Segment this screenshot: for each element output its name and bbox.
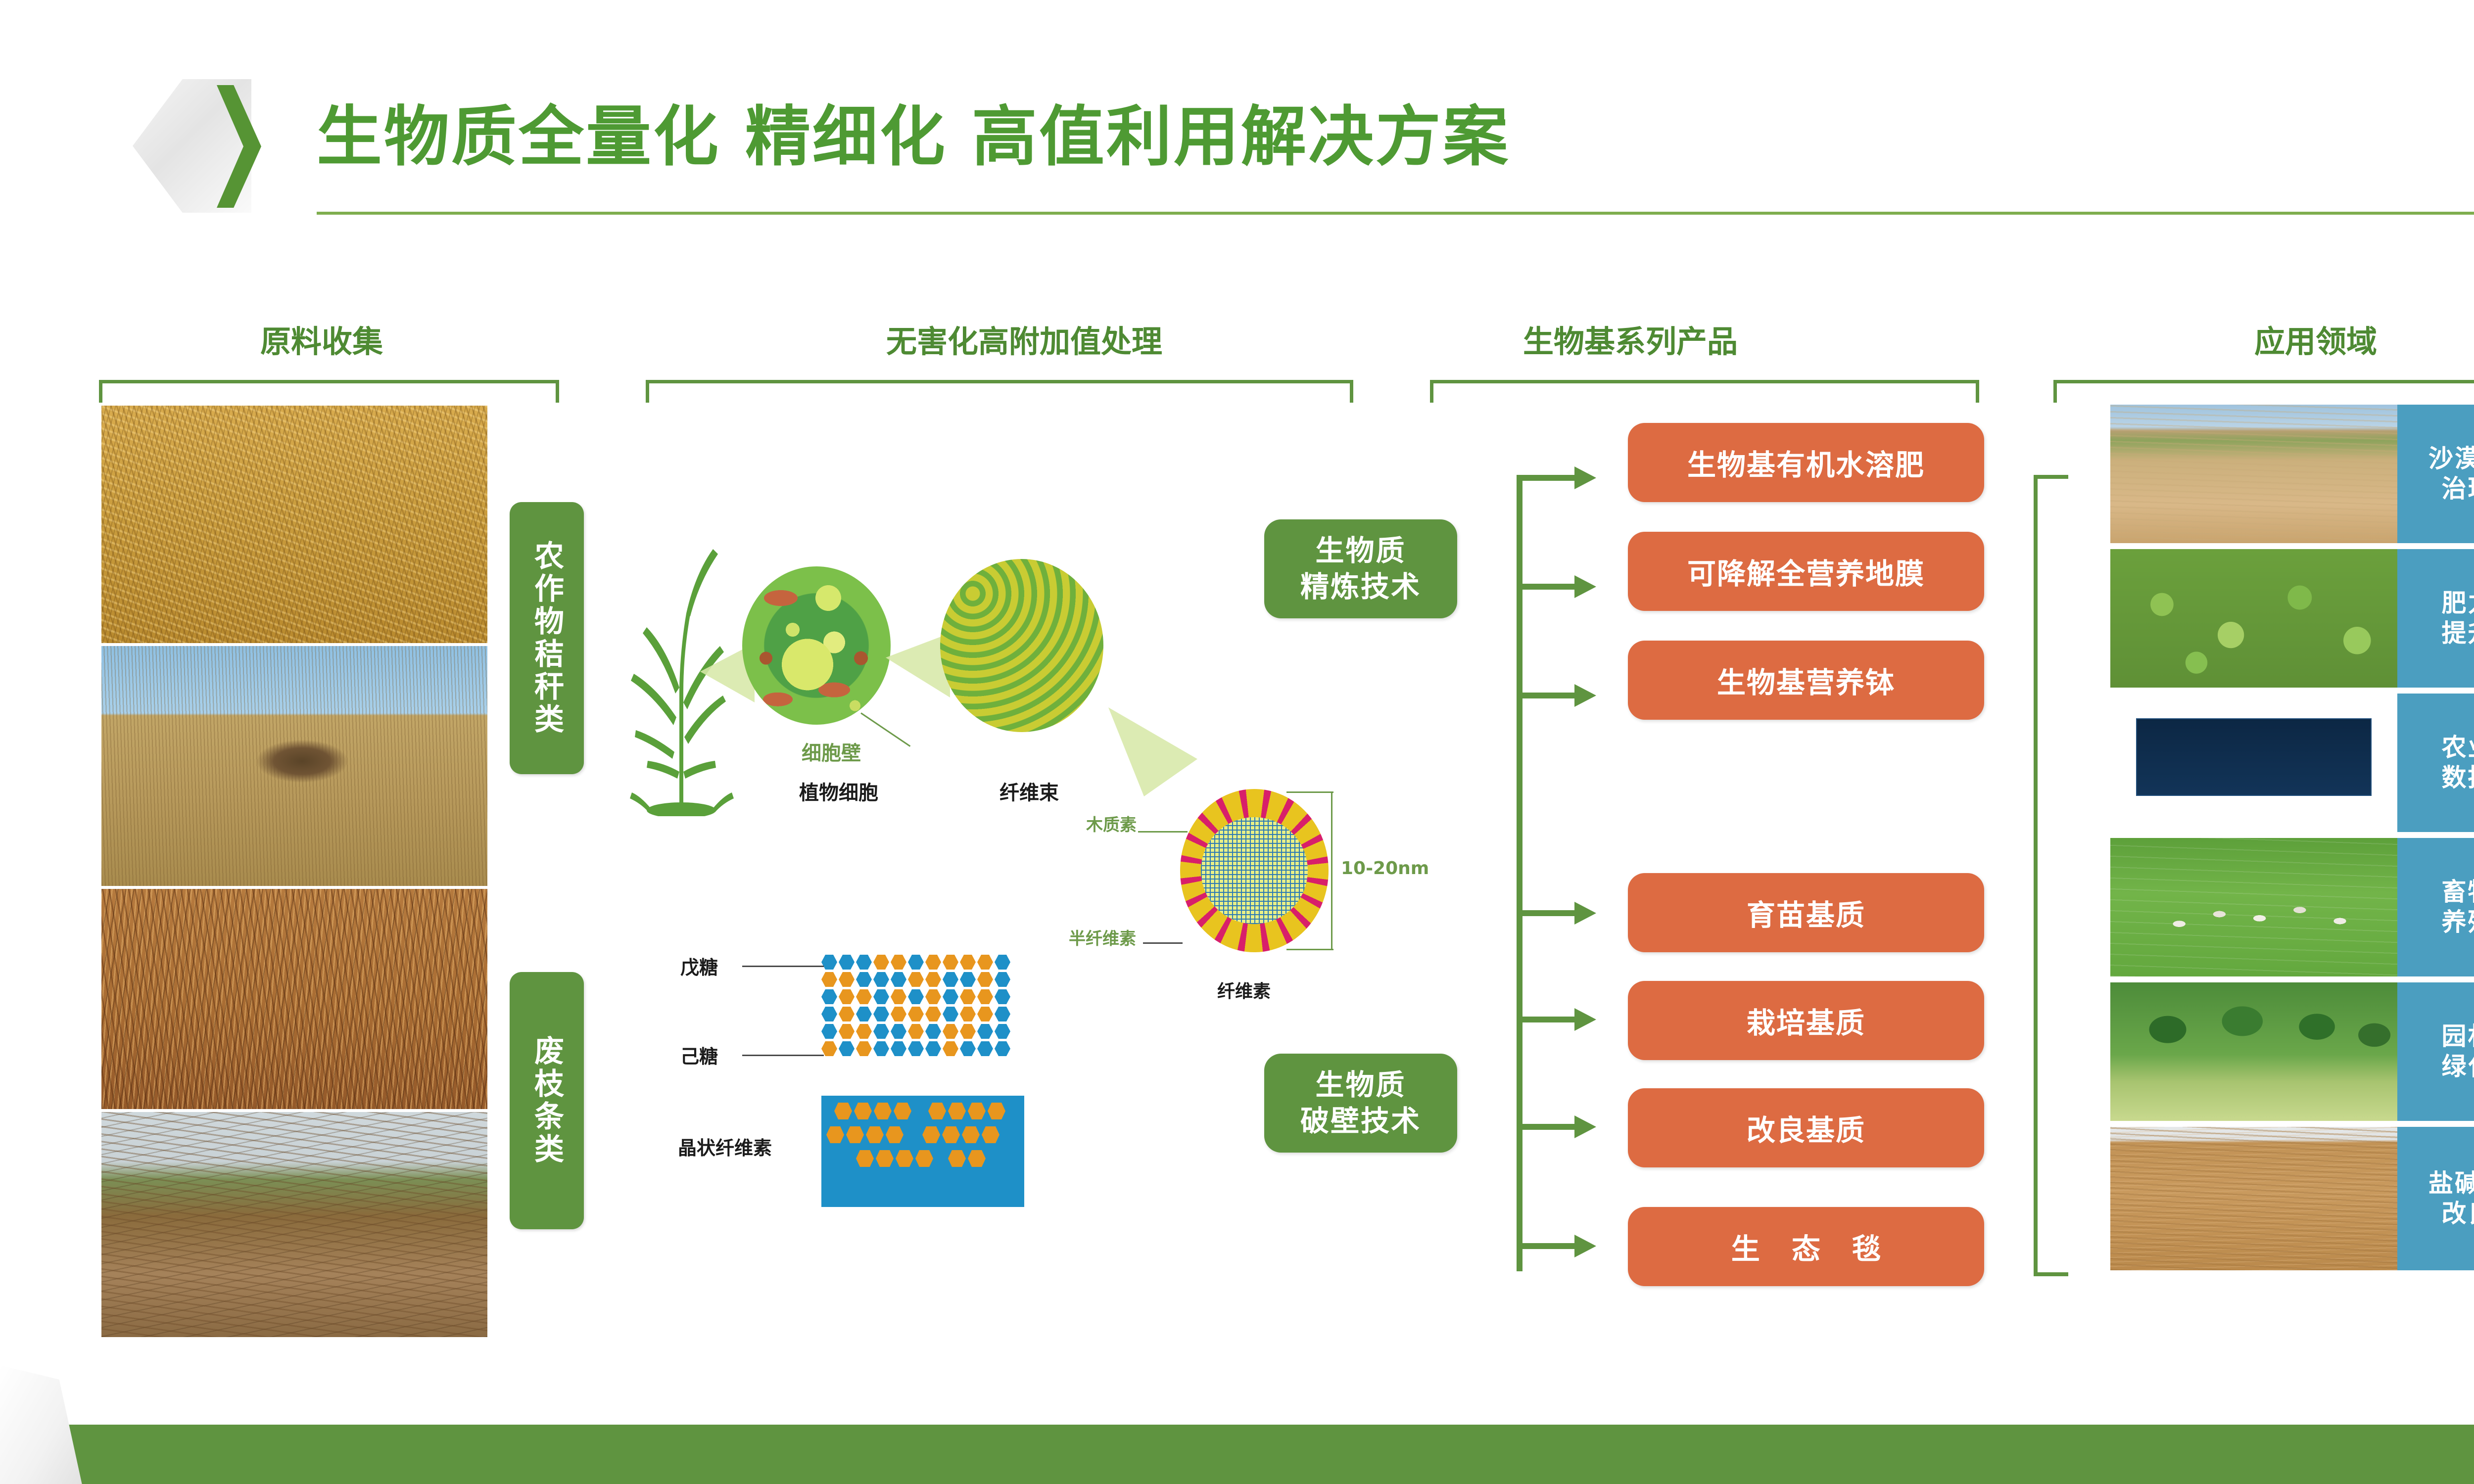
sugar-row bbox=[821, 1007, 1168, 1021]
product-box-biodegradable-mulch-film[interactable]: 可降解全营养地膜 bbox=[1628, 532, 1984, 611]
photo-saline-alkali-land bbox=[2110, 1127, 2397, 1270]
cellulose-row bbox=[826, 1126, 1024, 1143]
photo-corn-stalk-field bbox=[101, 406, 487, 643]
sugar-row bbox=[821, 989, 1168, 1004]
label-cell-wall: 细胞壁 bbox=[802, 737, 861, 766]
photo-straw-bale-field bbox=[101, 646, 487, 886]
photo-data-control-room bbox=[2110, 694, 2397, 832]
section-title-bio-products: 生物基系列产品 bbox=[1296, 317, 1964, 361]
arrow-branch bbox=[1517, 1243, 1576, 1249]
leader-line-pentose bbox=[742, 966, 824, 967]
arrow-head bbox=[1574, 466, 1596, 489]
crystalline-cellulose-illustration bbox=[821, 1096, 1024, 1207]
app-label-line2: 治理 bbox=[2428, 474, 2474, 504]
app-label-line2: 绿化 bbox=[2442, 1052, 2474, 1082]
sugar-row bbox=[821, 955, 1168, 970]
zoom-beam-3 bbox=[1108, 707, 1197, 796]
label-fiber-dimension: 10-20nm bbox=[1341, 858, 1429, 879]
fiber-bundle-illustration bbox=[940, 559, 1103, 732]
sugar-row bbox=[821, 972, 1168, 987]
arrow-trunk-rupture bbox=[1517, 910, 1522, 1271]
app-label-line1: 肥力 bbox=[2442, 588, 2474, 618]
leader-line-hexose bbox=[742, 1055, 824, 1056]
bracket-bio-products bbox=[1430, 380, 1979, 403]
tech-label-line2: 精炼技术 bbox=[1300, 569, 1421, 605]
app-label-line2: 养殖 bbox=[2442, 907, 2474, 937]
application-label-livestock-breeding[interactable]: 畜牧 养殖 bbox=[2397, 838, 2474, 976]
label-lignin: 木质素 bbox=[1086, 811, 1137, 835]
arrow-head bbox=[1574, 1235, 1596, 1257]
product-box-water-soluble-fertilizer[interactable]: 生物基有机水溶肥 bbox=[1628, 423, 1984, 502]
app-label-line1: 园林 bbox=[2442, 1021, 2474, 1052]
photo-sheep-grazing bbox=[2110, 838, 2397, 976]
leader-line-hemicellulose bbox=[1143, 942, 1183, 944]
application-label-agricultural-data[interactable]: 农业 数据 bbox=[2397, 694, 2474, 832]
product-box-ecological-blanket[interactable]: 生 态 毯 bbox=[1628, 1207, 1984, 1286]
label-pentose: 戊糖 bbox=[680, 952, 718, 979]
arrow-head bbox=[1574, 1115, 1596, 1138]
title-divider bbox=[317, 212, 2474, 215]
tech-label-line1: 生物质 bbox=[1315, 533, 1406, 569]
bracket-processing bbox=[646, 380, 1353, 403]
app-label-line1: 沙漠化 bbox=[2428, 444, 2474, 474]
tech-label-line1: 生物质 bbox=[1315, 1067, 1406, 1103]
leader-line-lignin bbox=[1138, 831, 1188, 833]
label-hemicellulose: 半纤维素 bbox=[1069, 925, 1136, 949]
brand-logo bbox=[133, 79, 251, 213]
product-box-nutrition-pot[interactable]: 生物基营养钵 bbox=[1628, 641, 1984, 720]
sugar-row bbox=[821, 1041, 1168, 1056]
arrow-trunk-refining bbox=[1517, 475, 1522, 979]
application-label-landscape-greening[interactable]: 园林 绿化 bbox=[2397, 982, 2474, 1121]
fiber-cross-section-illustration bbox=[1180, 789, 1329, 952]
application-label-saline-alkali-improvement[interactable]: 盐碱地 改良 bbox=[2397, 1127, 2474, 1270]
label-crystalline-cellulose: 晶状纤维素 bbox=[678, 1133, 772, 1160]
photo-dry-branches bbox=[101, 889, 487, 1109]
app-label-line2: 提升 bbox=[2442, 618, 2474, 649]
app-label-line1: 畜牧 bbox=[2442, 877, 2474, 907]
page-title: 生物质全量化 精细化 高值利用解决方案 bbox=[317, 84, 1510, 179]
arrow-branch bbox=[1517, 1124, 1576, 1130]
app-label-line1: 农业 bbox=[2442, 733, 2474, 763]
label-plant-cell: 植物细胞 bbox=[799, 777, 878, 805]
label-hexose: 己糖 bbox=[680, 1041, 718, 1068]
app-label-line1: 盐碱地 bbox=[2428, 1168, 2474, 1199]
arrow-head bbox=[1574, 1008, 1596, 1031]
product-box-seedling-substrate[interactable]: 育苗基质 bbox=[1628, 873, 1984, 952]
app-label-line2: 数据 bbox=[2442, 763, 2474, 793]
plant-cell-illustration bbox=[742, 566, 891, 725]
leader-line-cell-wall bbox=[860, 712, 910, 747]
product-box-cultivation-substrate[interactable]: 栽培基质 bbox=[1628, 981, 1984, 1060]
label-fiber-bundle: 纤维束 bbox=[999, 777, 1059, 805]
tech-box-cell-rupture[interactable]: 生物质 破壁技术 bbox=[1264, 1054, 1457, 1153]
dimension-tick-top bbox=[1286, 791, 1333, 793]
bracket-applications-group bbox=[2034, 475, 2068, 1276]
cellulose-grid bbox=[1201, 817, 1308, 924]
section-title-applications: 应用领域 bbox=[2068, 317, 2474, 361]
label-cellulose: 纤维素 bbox=[1217, 977, 1271, 1003]
bracket-applications bbox=[2053, 380, 2474, 403]
section-title-raw-material: 原料收集 bbox=[148, 317, 495, 361]
photo-desert-control bbox=[2110, 405, 2397, 543]
bracket-raw-material bbox=[99, 380, 559, 403]
arrow-head bbox=[1574, 684, 1596, 707]
arrow-head bbox=[1574, 575, 1596, 598]
cellulose-row bbox=[856, 1150, 1024, 1167]
section-title-processing: 无害化高附加值处理 bbox=[653, 317, 1395, 361]
photo-orchard-pruning bbox=[101, 1112, 487, 1337]
category-pill-crop-straw[interactable]: 农作物秸秆类 bbox=[510, 502, 584, 774]
footer-bar bbox=[0, 1425, 2474, 1484]
dimension-tick-bottom bbox=[1286, 949, 1333, 950]
application-label-fertility-improvement[interactable]: 肥力 提升 bbox=[2397, 549, 2474, 688]
dimension-line-vertical bbox=[1331, 791, 1332, 950]
photo-park-greening bbox=[2110, 982, 2397, 1121]
category-pill-waste-branches[interactable]: 废枝条类 bbox=[510, 972, 584, 1229]
photo-cabbage-field bbox=[2110, 549, 2397, 688]
application-label-desertification-control[interactable]: 沙漠化 治理 bbox=[2397, 405, 2474, 543]
arrow-head bbox=[1574, 902, 1596, 925]
arrow-branch bbox=[1517, 693, 1576, 698]
tech-box-refining[interactable]: 生物质 精炼技术 bbox=[1264, 519, 1457, 618]
data-screen bbox=[2136, 718, 2372, 796]
tech-label-line2: 破壁技术 bbox=[1300, 1103, 1421, 1139]
product-box-improvement-substrate[interactable]: 改良基质 bbox=[1628, 1088, 1984, 1167]
arrow-branch bbox=[1517, 1017, 1576, 1022]
arrow-branch bbox=[1517, 475, 1576, 481]
arrow-branch bbox=[1517, 910, 1576, 916]
app-label-line2: 改良 bbox=[2428, 1199, 2474, 1229]
cellulose-row bbox=[834, 1103, 1024, 1119]
arrow-branch bbox=[1517, 584, 1576, 590]
sugar-row bbox=[821, 1024, 1168, 1039]
